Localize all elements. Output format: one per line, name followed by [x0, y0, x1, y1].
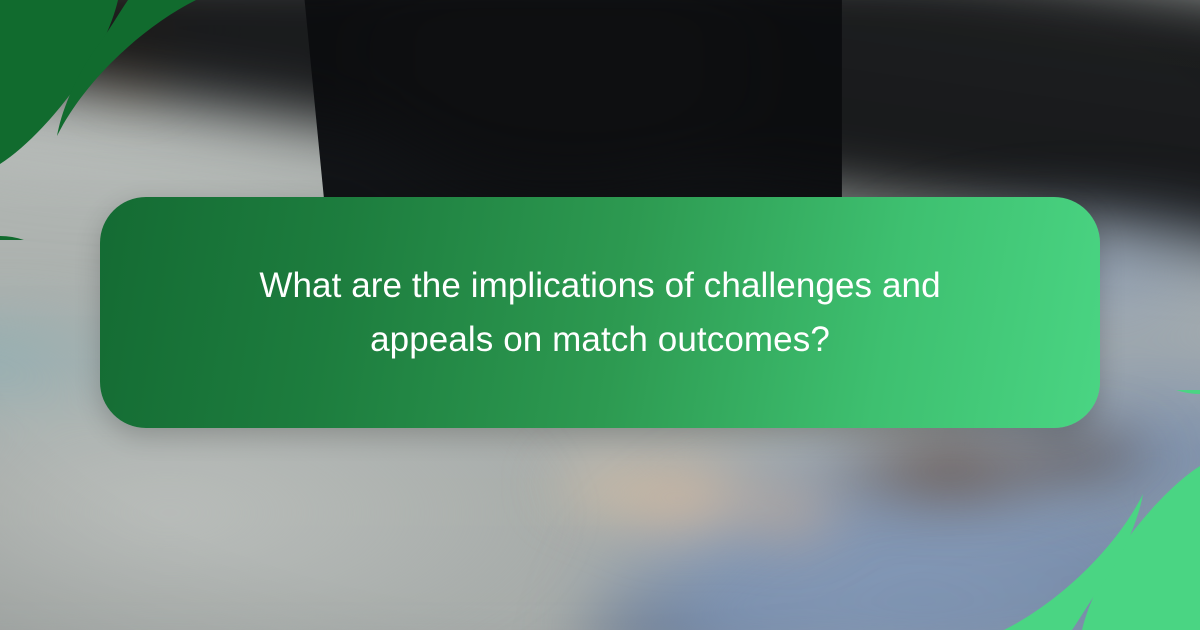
question-card: What are the implications of challenges … [100, 197, 1100, 428]
og-image-canvas: What are the implications of challenges … [0, 0, 1200, 630]
question-text: What are the implications of challenges … [220, 259, 980, 365]
